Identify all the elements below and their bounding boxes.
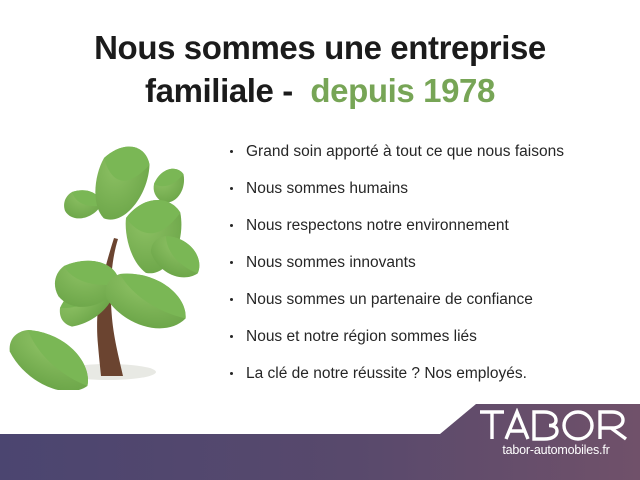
list-item: Nous respectons notre environnement xyxy=(228,217,640,235)
tabor-wordmark-icon xyxy=(478,408,630,442)
footer-bar: tabor-automobiles.fr xyxy=(0,400,640,480)
list-item-label: Grand soin apporté à tout ce que nous fa… xyxy=(246,143,564,160)
list-item: Nous sommes innovants xyxy=(228,254,640,272)
bullet-icon xyxy=(230,261,233,264)
green-tree-icon xyxy=(8,140,218,390)
page-title-line-2-prefix: familiale - xyxy=(145,72,310,109)
list-item: Nous sommes un partenaire de confiance xyxy=(228,291,640,309)
bullet-icon xyxy=(230,372,233,375)
page-title-line-1: Nous sommes une entreprise xyxy=(0,26,640,69)
tree-leaf xyxy=(8,318,100,390)
list-item: Nous sommes humains xyxy=(228,180,640,198)
page-title-line-2: familiale - depuis 1978 xyxy=(0,69,640,112)
marketing-slide: Nous sommes une entreprise familiale - d… xyxy=(0,0,640,480)
bullet-icon xyxy=(230,224,233,227)
page-title-accent-year: depuis 1978 xyxy=(310,72,495,109)
bullet-icon xyxy=(230,150,233,153)
tree-leaf xyxy=(148,165,191,206)
bullet-icon xyxy=(230,335,233,338)
bullet-icon xyxy=(230,298,233,301)
list-item-label: Nous et notre région sommes liés xyxy=(246,328,477,345)
list-item-label: Nous respectons notre environnement xyxy=(246,217,509,234)
page-title: Nous sommes une entreprise familiale - d… xyxy=(0,26,640,112)
list-item: Nous et notre région sommes liés xyxy=(228,328,640,346)
list-item: La clé de notre réussite ? Nos employés. xyxy=(228,365,640,383)
list-item-label: La clé de notre réussite ? Nos employés. xyxy=(246,365,527,382)
list-item: Grand soin apporté à tout ce que nous fa… xyxy=(228,143,640,161)
list-item-label: Nous sommes un partenaire de confiance xyxy=(246,291,533,308)
benefits-list: Grand soin apporté à tout ce que nous fa… xyxy=(228,143,640,402)
brand-tagline: tabor-automobiles.fr xyxy=(478,443,634,457)
bullet-icon xyxy=(230,187,233,190)
list-item-label: Nous sommes humains xyxy=(246,180,408,197)
list-item-label: Nous sommes innovants xyxy=(246,254,416,271)
brand-logo[interactable]: tabor-automobiles.fr xyxy=(478,408,634,457)
